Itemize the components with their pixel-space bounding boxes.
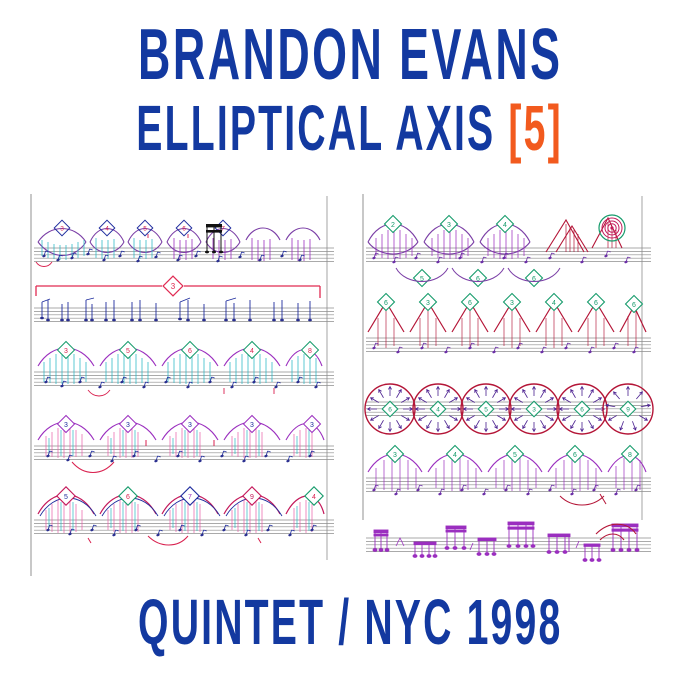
svg-text:4: 4 (105, 226, 109, 233)
diamond-marker-group-5: 5 6 7 9 4 (57, 487, 323, 505)
svg-text:6: 6 (126, 494, 130, 501)
artist-name: BRANDON EVANS (138, 18, 562, 91)
right-system-5 (366, 522, 651, 561)
right-system-1: 2 3 4 5 6 6 (366, 215, 651, 286)
right-score-panel: 2 3 4 5 6 6 (360, 190, 668, 580)
svg-text:4: 4 (503, 222, 507, 229)
svg-text:6: 6 (468, 300, 472, 307)
right-system-4: 3 4 5 6 8 (366, 446, 651, 505)
svg-text:6: 6 (182, 226, 186, 233)
score-artwork: 3 4 5 6 7 (0, 190, 700, 580)
svg-text:3: 3 (310, 422, 314, 429)
left-score-panel: 3 4 5 6 7 (28, 190, 353, 580)
diamond-marker-group-4: 3 3 3 3 3 (58, 416, 321, 433)
right-diamond-group-2: 6 3 6 3 4 6 6 (378, 294, 643, 313)
svg-text:6: 6 (573, 452, 577, 459)
svg-text:6: 6 (632, 302, 636, 309)
svg-text:9: 9 (626, 407, 630, 414)
svg-text:4: 4 (250, 348, 254, 355)
svg-text:3: 3 (171, 282, 176, 291)
svg-text:5: 5 (126, 348, 130, 355)
svg-text:6: 6 (188, 348, 192, 355)
svg-text:3: 3 (60, 226, 64, 233)
right-score-drawing: 2 3 4 5 6 6 (360, 190, 668, 580)
svg-text:7: 7 (188, 494, 192, 501)
artist-line: BRANDON EVANS (0, 18, 700, 74)
album-title: ELLIPTICAL AXIS [5] (137, 98, 563, 162)
svg-text:6: 6 (388, 407, 392, 414)
svg-text:3: 3 (126, 422, 130, 429)
svg-text:6: 6 (384, 300, 388, 307)
svg-text:5: 5 (513, 452, 517, 459)
album-title-text: ELLIPTICAL AXIS (137, 94, 509, 164)
right-system-3-circles: 6 (365, 384, 653, 434)
diamond-marker-group-3: 3 5 6 4 8 (58, 342, 319, 359)
left-system-2: 3 (34, 276, 334, 321)
svg-text:3: 3 (188, 422, 192, 429)
diamond-marker-bracket: 3 (163, 276, 183, 296)
footer-line: QUINTET / NYC 1998 (0, 592, 700, 641)
svg-text:9: 9 (250, 494, 254, 501)
footer-credit: QUINTET / NYC 1998 (138, 592, 562, 656)
left-score-drawing: 3 4 5 6 7 (28, 190, 353, 580)
svg-text:5: 5 (143, 226, 147, 233)
left-system-4: 3 3 3 3 3 (34, 416, 334, 473)
svg-text:5: 5 (64, 494, 68, 501)
album-title-line: ELLIPTICAL AXIS [5] (0, 98, 700, 147)
svg-text:3: 3 (393, 452, 397, 459)
svg-text:3: 3 (532, 407, 536, 414)
right-system-2: 6 3 6 3 4 6 6 (366, 294, 651, 354)
svg-text:4: 4 (453, 452, 457, 459)
album-cover: BRANDON EVANS ELLIPTICAL AXIS [5] (0, 0, 700, 700)
svg-text:3: 3 (447, 222, 451, 229)
svg-text:6: 6 (580, 407, 584, 414)
svg-text:3: 3 (426, 300, 430, 307)
svg-text:3: 3 (250, 422, 254, 429)
svg-text:2: 2 (391, 222, 395, 229)
svg-text:6: 6 (594, 300, 598, 307)
left-system-5: 5 6 7 9 4 (34, 487, 334, 545)
svg-text:5: 5 (484, 407, 488, 414)
left-system-3: 3 5 6 4 8 (34, 342, 334, 396)
album-number-bracket: [5] (509, 94, 563, 164)
svg-text:8: 8 (628, 452, 632, 459)
svg-text:3: 3 (510, 300, 514, 307)
svg-text:3: 3 (64, 422, 68, 429)
svg-text:4: 4 (436, 407, 440, 414)
svg-text:4: 4 (312, 494, 316, 501)
svg-text:3: 3 (64, 348, 68, 355)
diamond-marker-group-1: 3 4 5 6 7 (54, 220, 231, 236)
svg-text:4: 4 (552, 300, 556, 307)
svg-text:8: 8 (308, 348, 312, 355)
left-system-1: 3 4 5 6 7 (34, 220, 334, 266)
right-diamond-group-4: 3 4 5 6 8 (387, 446, 639, 463)
